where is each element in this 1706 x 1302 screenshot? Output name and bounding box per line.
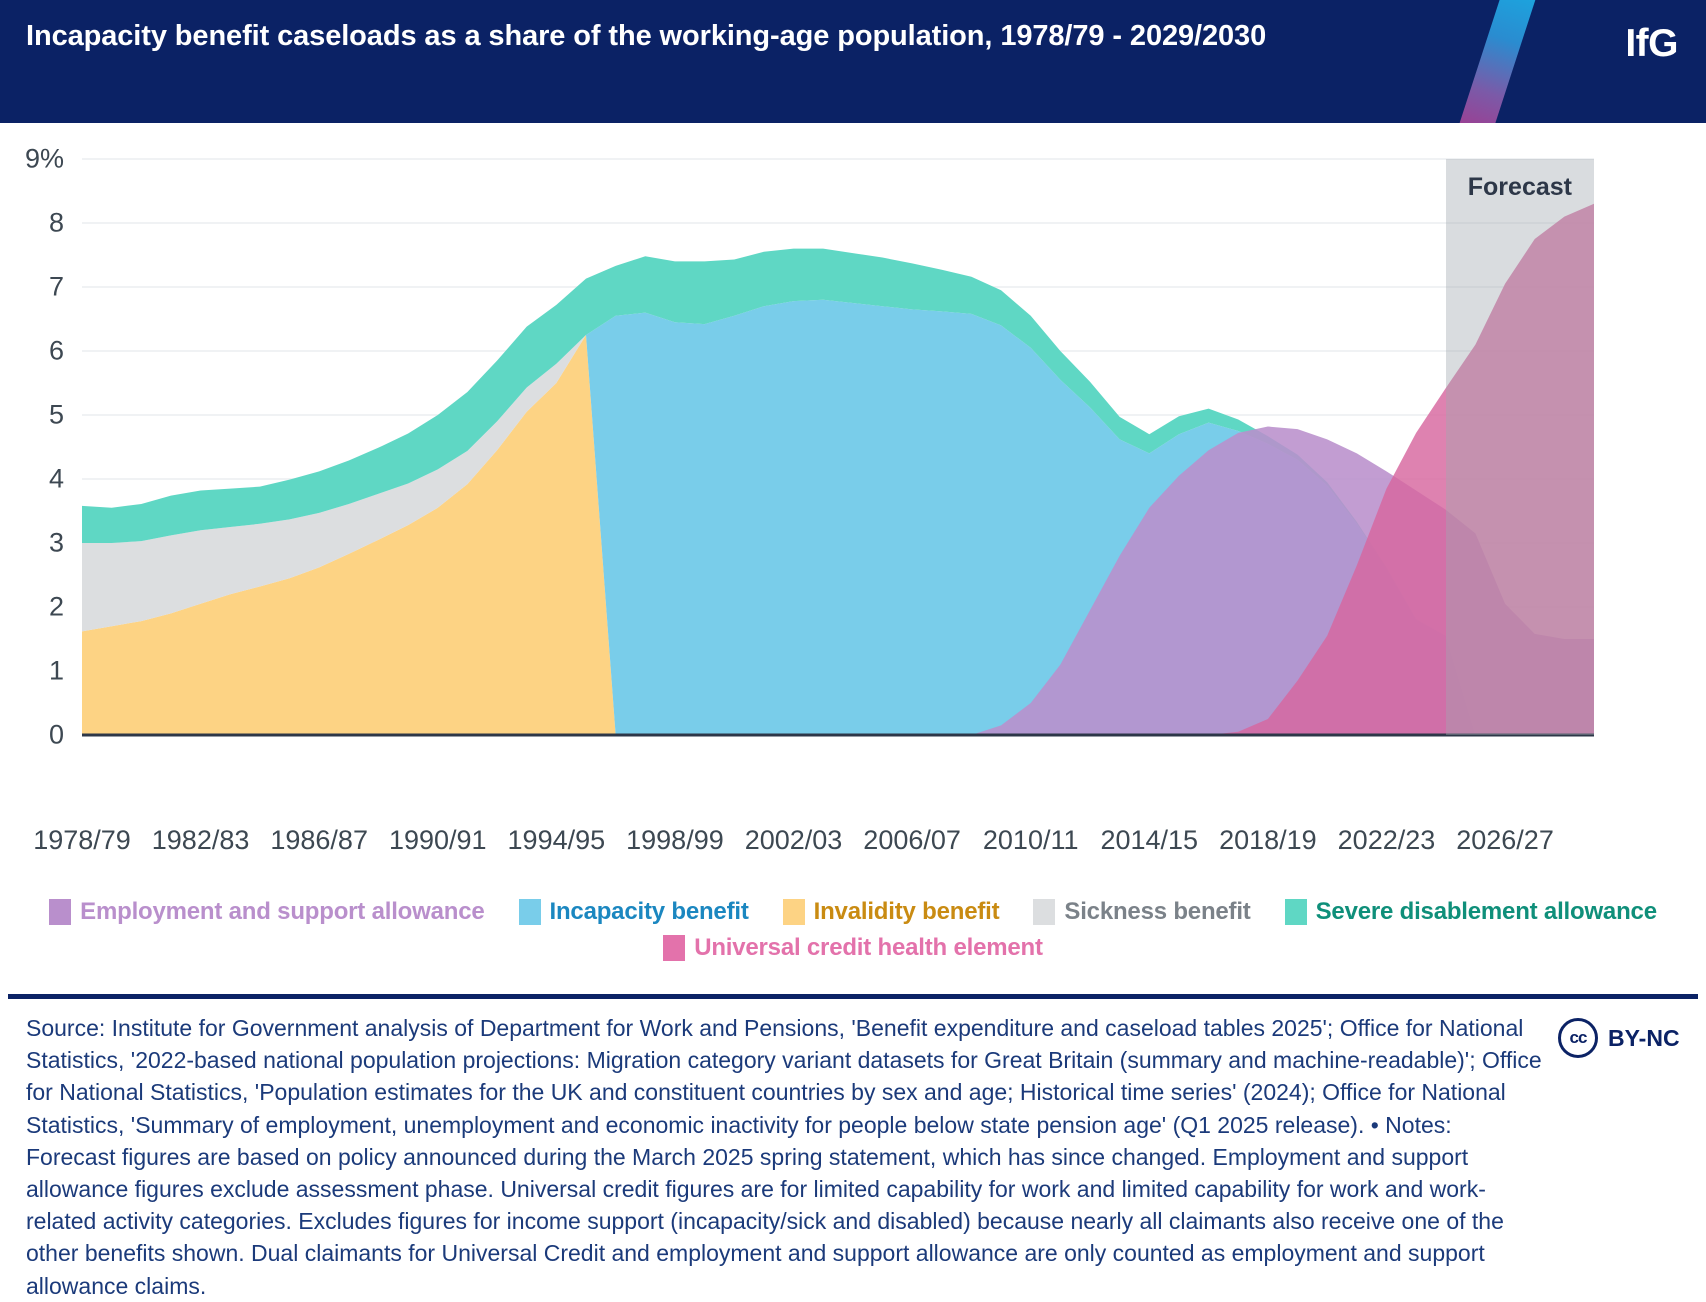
x-axis-tick-10: 2018/19 xyxy=(1219,825,1317,856)
source-note: Source: Institute for Government analysi… xyxy=(26,1012,1546,1302)
legend-item[interactable]: Universal credit health element xyxy=(663,934,1043,962)
chart-container: 0123456789% Forecast 1978/791982/831986/… xyxy=(0,123,1706,763)
x-axis-tick-1: 1982/83 xyxy=(152,825,250,856)
x-axis-labels: 1978/791982/831986/871990/911994/951998/… xyxy=(0,825,1706,869)
legend-item[interactable]: Invalidity benefit xyxy=(783,898,1000,926)
legend-label: Severe disablement allowance xyxy=(1316,898,1657,926)
ifg-logo-text: IfG xyxy=(1625,22,1678,66)
legend-row-primary: Employment and support allowanceIncapaci… xyxy=(0,898,1706,926)
y-axis-tick-4: 4 xyxy=(49,464,64,495)
header-bar: Incapacity benefit caseloads as a share … xyxy=(0,0,1706,123)
legend-item[interactable]: Incapacity benefit xyxy=(519,898,749,926)
legend-row-secondary: Universal credit health element xyxy=(0,934,1706,962)
y-axis-tick-0: 0 xyxy=(49,720,64,751)
legend-swatch-icon xyxy=(49,899,71,925)
creative-commons-badge: cc BY-NC xyxy=(1558,1018,1680,1058)
area-chart-svg xyxy=(82,159,1594,735)
x-axis-tick-4: 1994/95 xyxy=(508,825,606,856)
cc-icon: cc xyxy=(1558,1018,1598,1058)
plot-area xyxy=(82,159,1594,735)
legend-swatch-icon xyxy=(1285,899,1307,925)
y-axis-tick-2: 2 xyxy=(49,592,64,623)
y-axis-tick-8: 8 xyxy=(49,208,64,239)
page-title: Incapacity benefit caseloads as a share … xyxy=(26,18,1366,55)
legend-swatch-icon xyxy=(783,899,805,925)
footer-divider xyxy=(8,994,1698,999)
x-axis-tick-3: 1990/91 xyxy=(389,825,487,856)
x-axis-tick-8: 2010/11 xyxy=(983,825,1079,856)
x-axis-tick-2: 1986/87 xyxy=(270,825,368,856)
x-axis-tick-6: 2002/03 xyxy=(745,825,843,856)
forecast-band xyxy=(1446,159,1594,735)
legend-swatch-icon xyxy=(519,899,541,925)
chart-legend: Employment and support allowanceIncapaci… xyxy=(0,898,1706,970)
x-axis-tick-5: 1998/99 xyxy=(626,825,724,856)
y-axis-tick-7: 7 xyxy=(49,272,64,303)
chart-page: Incapacity benefit caseloads as a share … xyxy=(0,0,1706,1296)
legend-label: Invalidity benefit xyxy=(814,898,1000,926)
x-axis-tick-7: 2006/07 xyxy=(863,825,961,856)
y-axis-tick-1: 1 xyxy=(49,656,64,687)
legend-swatch-icon xyxy=(1033,899,1055,925)
legend-item[interactable]: Sickness benefit xyxy=(1033,898,1250,926)
legend-label: Incapacity benefit xyxy=(550,898,749,926)
x-axis-tick-0: 1978/79 xyxy=(33,825,131,856)
x-axis-tick-9: 2014/15 xyxy=(1100,825,1198,856)
y-axis-tick-9: 9% xyxy=(25,144,64,175)
y-axis-tick-3: 3 xyxy=(49,528,64,559)
y-axis-labels: 0123456789% xyxy=(0,123,74,771)
legend-item[interactable]: Employment and support allowance xyxy=(49,898,484,926)
ifg-logo-stripe-icon xyxy=(1456,0,1538,123)
x-axis-tick-12: 2026/27 xyxy=(1456,825,1554,856)
x-axis-tick-11: 2022/23 xyxy=(1338,825,1436,856)
y-axis-tick-5: 5 xyxy=(49,400,64,431)
forecast-label: Forecast xyxy=(1468,173,1572,202)
legend-swatch-icon xyxy=(663,935,685,961)
legend-label: Sickness benefit xyxy=(1064,898,1250,926)
legend-item[interactable]: Severe disablement allowance xyxy=(1285,898,1657,926)
legend-label: Employment and support allowance xyxy=(80,898,484,926)
y-axis-tick-6: 6 xyxy=(49,336,64,367)
licence-label: BY-NC xyxy=(1608,1025,1680,1052)
legend-label: Universal credit health element xyxy=(694,934,1043,962)
